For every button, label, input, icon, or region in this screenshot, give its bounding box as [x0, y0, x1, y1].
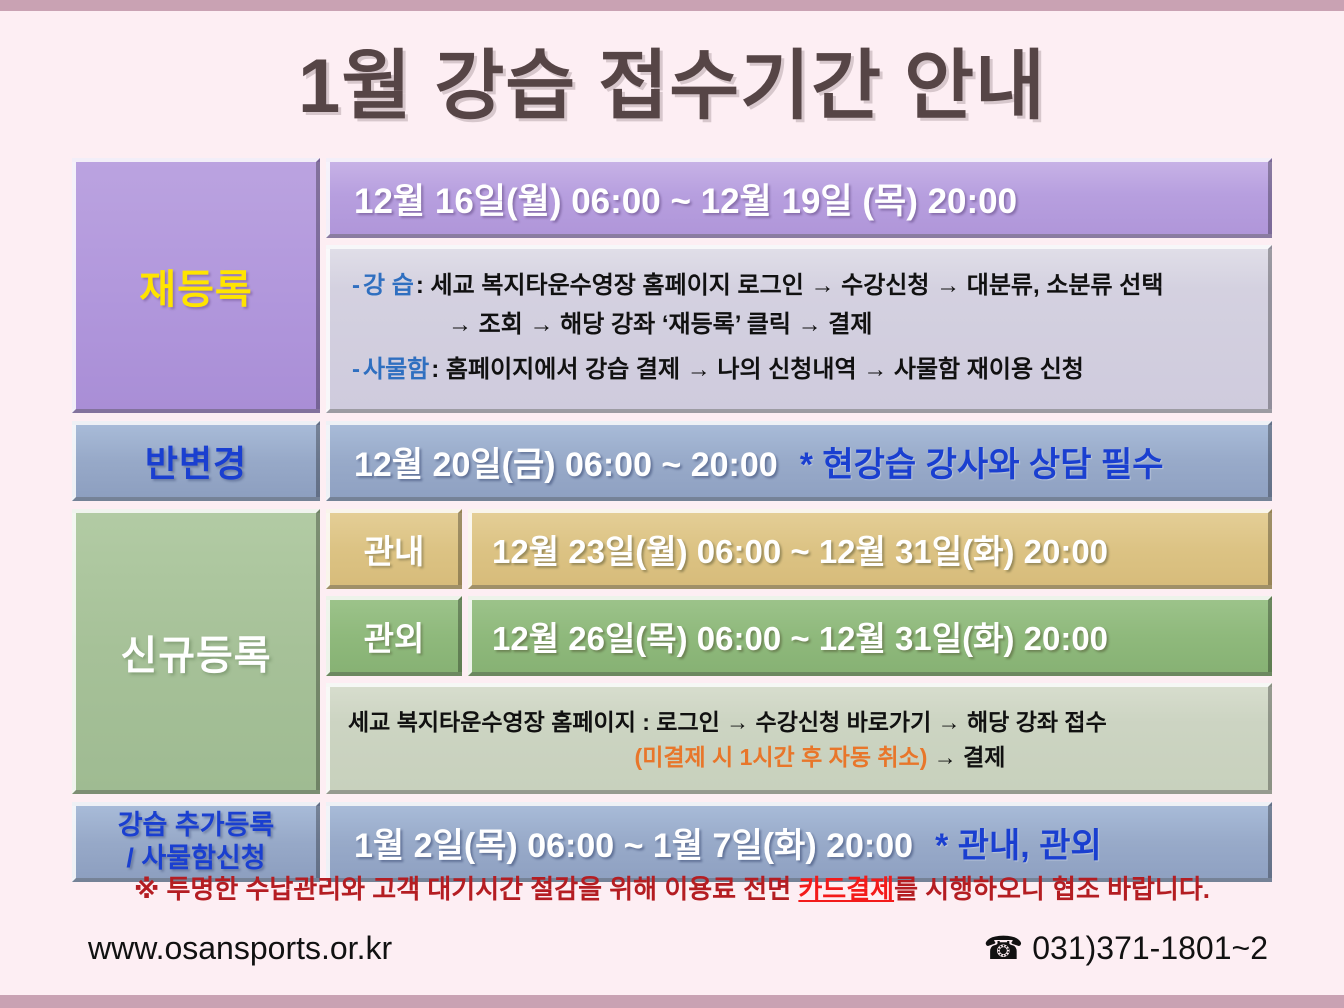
class-change-bar: 12월 20일(금) 06:00 ~ 20:00 * 현강습 강사와 상담 필수	[326, 421, 1272, 501]
footer-contact: www.osansports.or.kr ☎ 031)371-1801~2	[88, 929, 1268, 967]
sub-label-in-district: 관내	[326, 509, 462, 589]
reregister-date: 12월 16일(월) 06:00 ~ 12월 19일 (목) 20:00	[326, 158, 1272, 238]
payment-notice-suffix: 를 시행하오니 협조 바랍니다.	[894, 874, 1210, 904]
table-row-reregister: 재등록 12월 16일(월) 06:00 ~ 12월 19일 (목) 20:00…	[72, 158, 1272, 413]
reregister-detail-panel: - 강 습 : 세교 복지타운수영장 홈페이지 로그인 → 수강신청 → 대분류…	[326, 245, 1272, 413]
row-label-reregister: 재등록	[72, 158, 320, 413]
page-title: 1월 강습 접수기간 안내	[0, 11, 1344, 125]
detail-dash-class: -	[352, 269, 360, 304]
card-payment-highlight: 카드결제	[798, 874, 894, 904]
row-label-new-register: 신규등록	[72, 509, 320, 794]
auto-cancel-warning: (미결제 시 1시간 후 자동 취소)	[635, 744, 928, 770]
sub-row-in-district: 관내 12월 23일(월) 06:00 ~ 12월 31일(화) 20:00	[326, 509, 1272, 589]
detail-line-class: - 강 습 : 세교 복지타운수영장 홈페이지 로그인 → 수강신청 → 대분류…	[352, 269, 1254, 304]
detail-key-locker: 사물함	[363, 353, 429, 388]
sub-date-out-district: 12월 26일(목) 06:00 ~ 12월 31일(화) 20:00	[468, 596, 1272, 676]
new-register-note-tail: → 결제	[927, 744, 1005, 770]
sub-row-out-district: 관외 12월 26일(목) 06:00 ~ 12월 31일(화) 20:00	[326, 596, 1272, 676]
detail-dash-locker: -	[352, 353, 360, 388]
sub-date-in-district: 12월 23일(월) 06:00 ~ 12월 31일(화) 20:00	[468, 509, 1272, 589]
detail-key-class: 강 습	[363, 269, 414, 304]
telephone-icon: ☎	[983, 930, 1023, 966]
detail-line-class-cont: → 조회 → 해당 강좌 ‘재등록’ 클릭 → 결제	[352, 308, 1254, 343]
new-register-note-panel: 세교 복지타운수영장 홈페이지 : 로그인 → 수강신청 바로가기 → 해당 강…	[326, 683, 1272, 794]
website-url[interactable]: www.osansports.or.kr	[88, 930, 392, 967]
class-change-note: * 현강습 강사와 상담 필수	[800, 437, 1164, 486]
extra-register-label-line1: 강습 추가등록	[118, 809, 275, 842]
row-label-class-change: 반변경	[72, 421, 320, 501]
poster-body: 1월 강습 접수기간 안내 재등록 12월 16일(월) 06:00 ~ 12월…	[0, 11, 1344, 995]
detail-text-class: 세교 복지타운수영장 홈페이지 로그인 → 수강신청 → 대분류, 소분류 선택	[431, 269, 1164, 304]
table-row-class-change: 반변경 12월 20일(금) 06:00 ~ 20:00 * 현강습 강사와 상…	[72, 421, 1272, 501]
payment-notice: ※ 투명한 수납관리와 고객 대기시간 절감을 위해 이용료 전면 카드결제를 …	[0, 869, 1344, 906]
class-change-date: 12월 20일(금) 06:00 ~ 20:00	[354, 437, 778, 486]
top-decorative-band	[0, 0, 1344, 11]
phone-number: 031)371-1801~2	[1032, 930, 1268, 966]
bottom-decorative-band	[0, 995, 1344, 1008]
reregister-content: 12월 16일(월) 06:00 ~ 12월 19일 (목) 20:00 - 강…	[326, 158, 1272, 413]
new-register-note-line2: (미결제 시 1시간 후 자동 취소) → 결제	[348, 740, 1252, 775]
payment-notice-prefix: ※ 투명한 수납관리와 고객 대기시간 절감을 위해 이용료 전면	[134, 874, 798, 904]
phone-number-group: ☎ 031)371-1801~2	[983, 929, 1268, 967]
sub-label-out-district: 관외	[326, 596, 462, 676]
detail-colon-locker: :	[431, 353, 439, 388]
new-register-content: 관내 12월 23일(월) 06:00 ~ 12월 31일(화) 20:00 관…	[326, 509, 1272, 794]
new-register-note-line1: 세교 복지타운수영장 홈페이지 : 로그인 → 수강신청 바로가기 → 해당 강…	[348, 705, 1252, 740]
extra-register-note: * 관내, 관외	[935, 818, 1102, 867]
detail-line-locker: - 사물함 : 홈페이지에서 강습 결제 → 나의 신청내역 → 사물함 재이용…	[352, 353, 1254, 388]
detail-text-locker: 홈페이지에서 강습 결제 → 나의 신청내역 → 사물함 재이용 신청	[446, 353, 1084, 388]
detail-colon-class: :	[416, 269, 424, 304]
extra-register-date: 1월 2일(목) 06:00 ~ 1월 7일(화) 20:00	[354, 818, 913, 867]
class-change-content: 12월 20일(금) 06:00 ~ 20:00 * 현강습 강사와 상담 필수	[326, 421, 1272, 501]
table-row-new-register: 신규등록 관내 12월 23일(월) 06:00 ~ 12월 31일(화) 20…	[72, 509, 1272, 794]
schedule-table: 재등록 12월 16일(월) 06:00 ~ 12월 19일 (목) 20:00…	[72, 158, 1272, 890]
